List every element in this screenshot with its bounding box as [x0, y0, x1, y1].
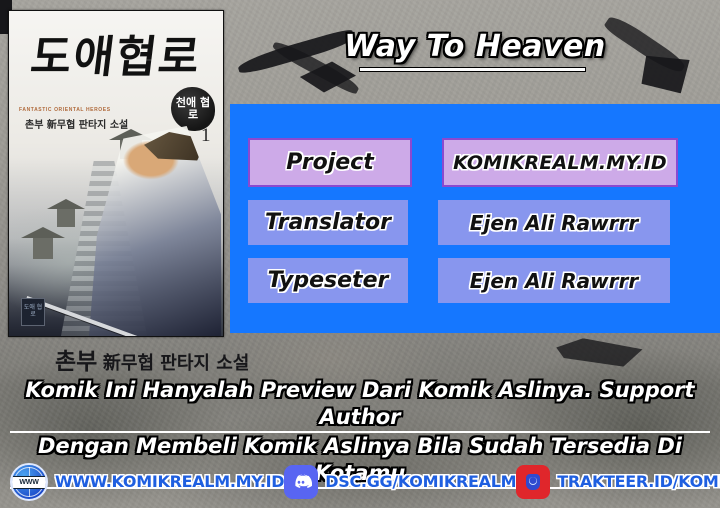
credits-row-translator: Translator Ejen Ali Rawrrr	[248, 200, 702, 245]
credits-panel: Project KOMIKREALM.MY.ID Translator Ejen…	[230, 104, 720, 333]
page-title: Way To Heaven	[230, 29, 720, 64]
credits-row-typeseter: Typeseter Ejen Ali Rawrrr	[248, 258, 702, 303]
credits-value-translator: Ejen Ali Rawrrr	[438, 200, 670, 245]
release-banner-page: 도애협로 천애 협로 1 FANTASTIC ORIENTAL HEROES 촌…	[0, 0, 720, 508]
cover-volume-number: 1	[201, 125, 211, 147]
credits-label-project: Project	[248, 138, 412, 187]
korean-subtitle: 촌부 新무협 판타지 소설	[55, 342, 249, 376]
cover-pagoda-near	[21, 227, 65, 259]
footer-links-bar: WWW WWW.KOMIKREALM.MY.ID DSC.GG/KOMIKREA…	[0, 455, 720, 508]
footer-item-discord[interactable]: DSC.GG/KOMIKREALM	[284, 465, 516, 499]
credits-row-project: Project KOMIKREALM.MY.ID	[248, 138, 702, 187]
footer-item-trakteer[interactable]: TRAKTEER.ID/KOMIKREALM	[516, 465, 720, 499]
cover-corner-stamp-text: 도애 협로	[22, 305, 44, 318]
cover-subtitle-english: FANTASTIC ORIENTAL HEROES	[19, 107, 149, 113]
book-cover: 도애협로 천애 협로 1 FANTASTIC ORIENTAL HEROES 촌…	[8, 10, 224, 337]
credits-label-translator: Translator	[248, 200, 408, 245]
cover-seal-text: 천애 협로	[171, 97, 215, 120]
cover-corner-stamp: 도애 협로	[21, 298, 45, 326]
globe-www-icon: WWW	[10, 463, 48, 501]
footer-discord-label[interactable]: DSC.GG/KOMIKREALM	[325, 472, 516, 491]
credits-value-typeseter: Ejen Ali Rawrrr	[438, 258, 670, 303]
footer-trakteer-label[interactable]: TRAKTEER.ID/KOMIKREALM	[557, 472, 720, 491]
credits-rows: Project KOMIKREALM.MY.ID Translator Ejen…	[248, 138, 702, 316]
korean-subtitle-author: 촌부	[55, 349, 97, 375]
footer-item-website[interactable]: WWW WWW.KOMIKREALM.MY.ID	[10, 463, 284, 501]
korean-subtitle-genre: 新무협 판타지 소설	[103, 353, 249, 374]
footer-website-label[interactable]: WWW.KOMIKREALM.MY.ID	[55, 472, 284, 491]
page-title-underline	[360, 68, 585, 71]
preview-notice-line-1: Komik Ini Hanyalah Preview Dari Komik As…	[10, 377, 710, 433]
credits-label-typeseter: Typeseter	[248, 258, 408, 303]
cover-pagoda-mid	[47, 199, 85, 227]
credits-value-project[interactable]: KOMIKREALM.MY.ID	[442, 138, 678, 187]
trakteer-icon	[516, 465, 550, 499]
discord-icon	[284, 465, 318, 499]
